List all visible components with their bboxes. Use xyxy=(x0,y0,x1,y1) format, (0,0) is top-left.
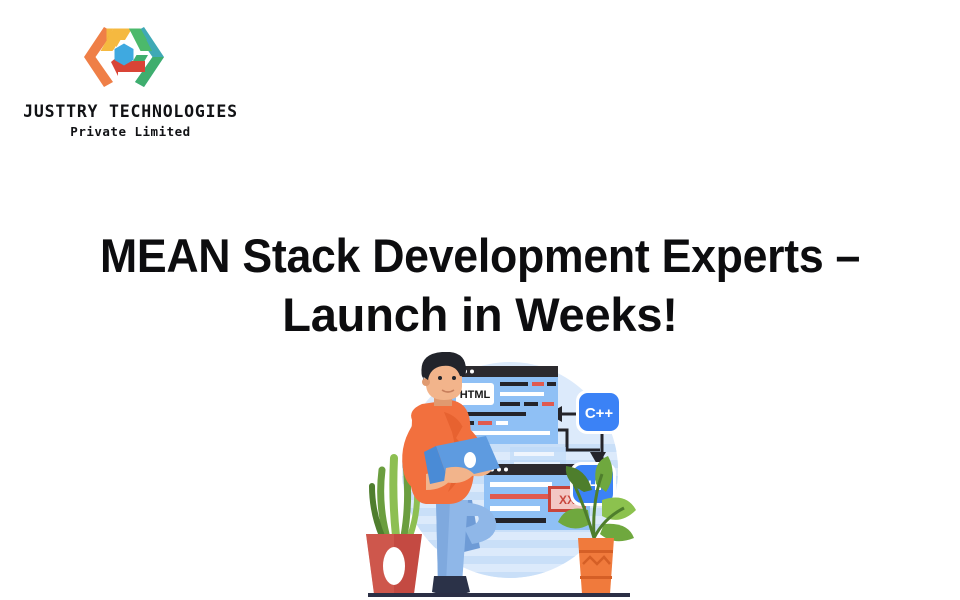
company-name: JUSTTRY TECHNOLOGIES xyxy=(8,102,253,121)
developer-illustration: HTML xyxy=(352,352,652,600)
justtry-hexagon-logo-icon xyxy=(82,18,166,96)
cpp-badge-label: C++ xyxy=(585,405,614,422)
headline-line-1: MEAN Stack Development Experts – xyxy=(81,226,879,285)
cpp-badge[interactable]: C++ xyxy=(576,390,622,434)
promo-banner-page: JUSTTRY TECHNOLOGIES Private Limited MEA… xyxy=(0,0,960,600)
headline-line-2: Launch in Weeks! xyxy=(60,285,900,344)
floor-line xyxy=(368,593,630,597)
company-suffix: Private Limited xyxy=(8,124,253,139)
brand-logo-block[interactable]: JUSTTRY TECHNOLOGIES Private Limited xyxy=(8,12,253,134)
page-title: MEAN Stack Development Experts – Launch … xyxy=(60,226,900,344)
html-tag-label: HTML xyxy=(460,389,491,401)
